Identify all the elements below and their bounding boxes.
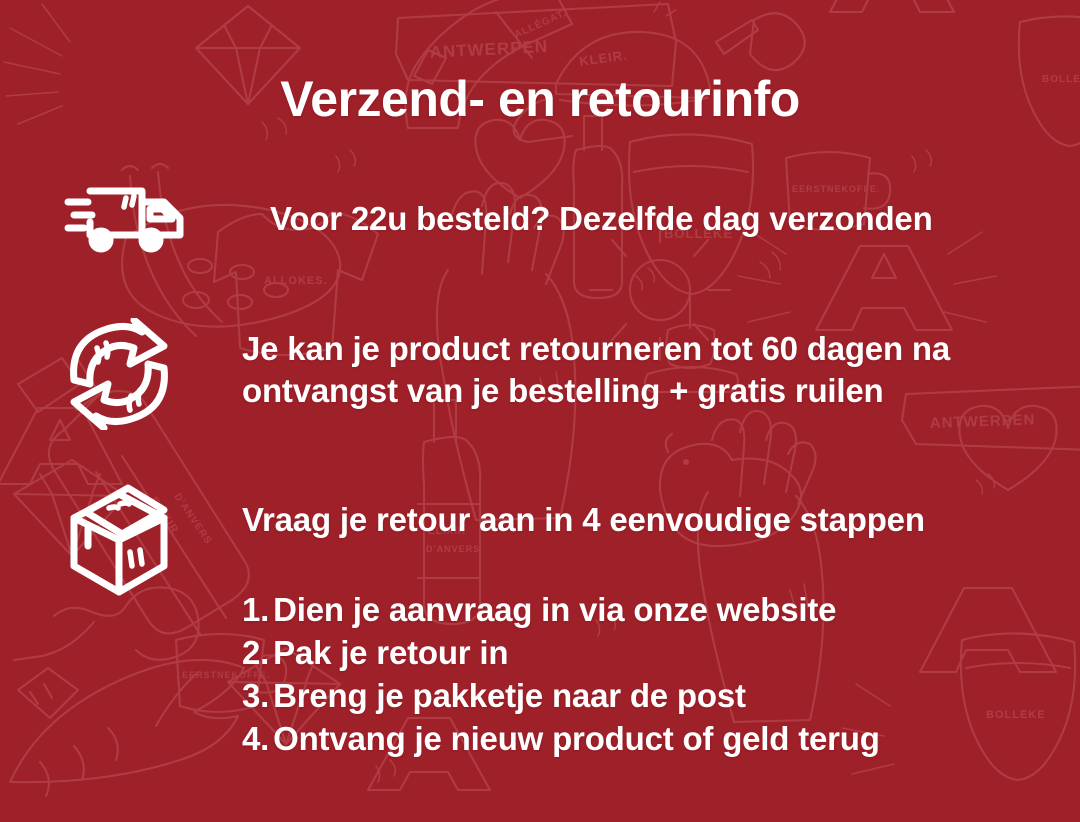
shipping-info-row: Voor 22u besteld? Dezelfde dag verzonden: [64, 178, 933, 258]
step-number: 1.: [242, 591, 269, 628]
step-label: Ontvang je nieuw product of geld terug: [273, 720, 880, 757]
list-item: 1.Dien je aanvraag in via onze website: [242, 588, 925, 631]
delivery-truck-icon: [64, 178, 194, 258]
content-layer: Verzend- en retourinfo: [0, 0, 1080, 822]
step-label: Pak je retour in: [273, 634, 508, 671]
returns-line-2: ontvangst van je bestelling + gratis rui…: [242, 372, 883, 409]
returns-info-text: Je kan je product retourneren tot 60 dag…: [242, 318, 950, 412]
list-item: 4.Ontvang je nieuw product of geld terug: [242, 717, 925, 760]
step-number: 2.: [242, 634, 269, 671]
package-box-icon: [64, 484, 174, 599]
return-steps-heading: Vraag je retour aan in 4 eenvoudige stap…: [242, 499, 925, 541]
shipping-and-returns-panel: ALLÉGAT. ANTWERPEN KLEIR.: [0, 0, 1080, 822]
step-label: Breng je pakketje naar de post: [273, 677, 746, 714]
return-steps-list: 1.Dien je aanvraag in via onze website 2…: [242, 588, 925, 760]
step-label: Dien je aanvraag in via onze website: [273, 591, 836, 628]
step-number: 4.: [242, 720, 269, 757]
return-steps-row: Vraag je retour aan in 4 eenvoudige stap…: [64, 484, 925, 760]
list-item: 2.Pak je retour in: [242, 631, 925, 674]
returns-line-1: Je kan je product retourneren tot 60 dag…: [242, 330, 950, 367]
shipping-info-text: Voor 22u besteld? Dezelfde dag verzonden: [270, 178, 933, 240]
list-item: 3.Breng je pakketje naar de post: [242, 674, 925, 717]
return-steps-block: Vraag je retour aan in 4 eenvoudige stap…: [242, 484, 925, 760]
returns-info-row: Je kan je product retourneren tot 60 dag…: [64, 318, 950, 430]
step-number: 3.: [242, 677, 269, 714]
page-title: Verzend- en retourinfo: [0, 72, 1080, 127]
return-exchange-arrows-icon: [64, 318, 174, 430]
